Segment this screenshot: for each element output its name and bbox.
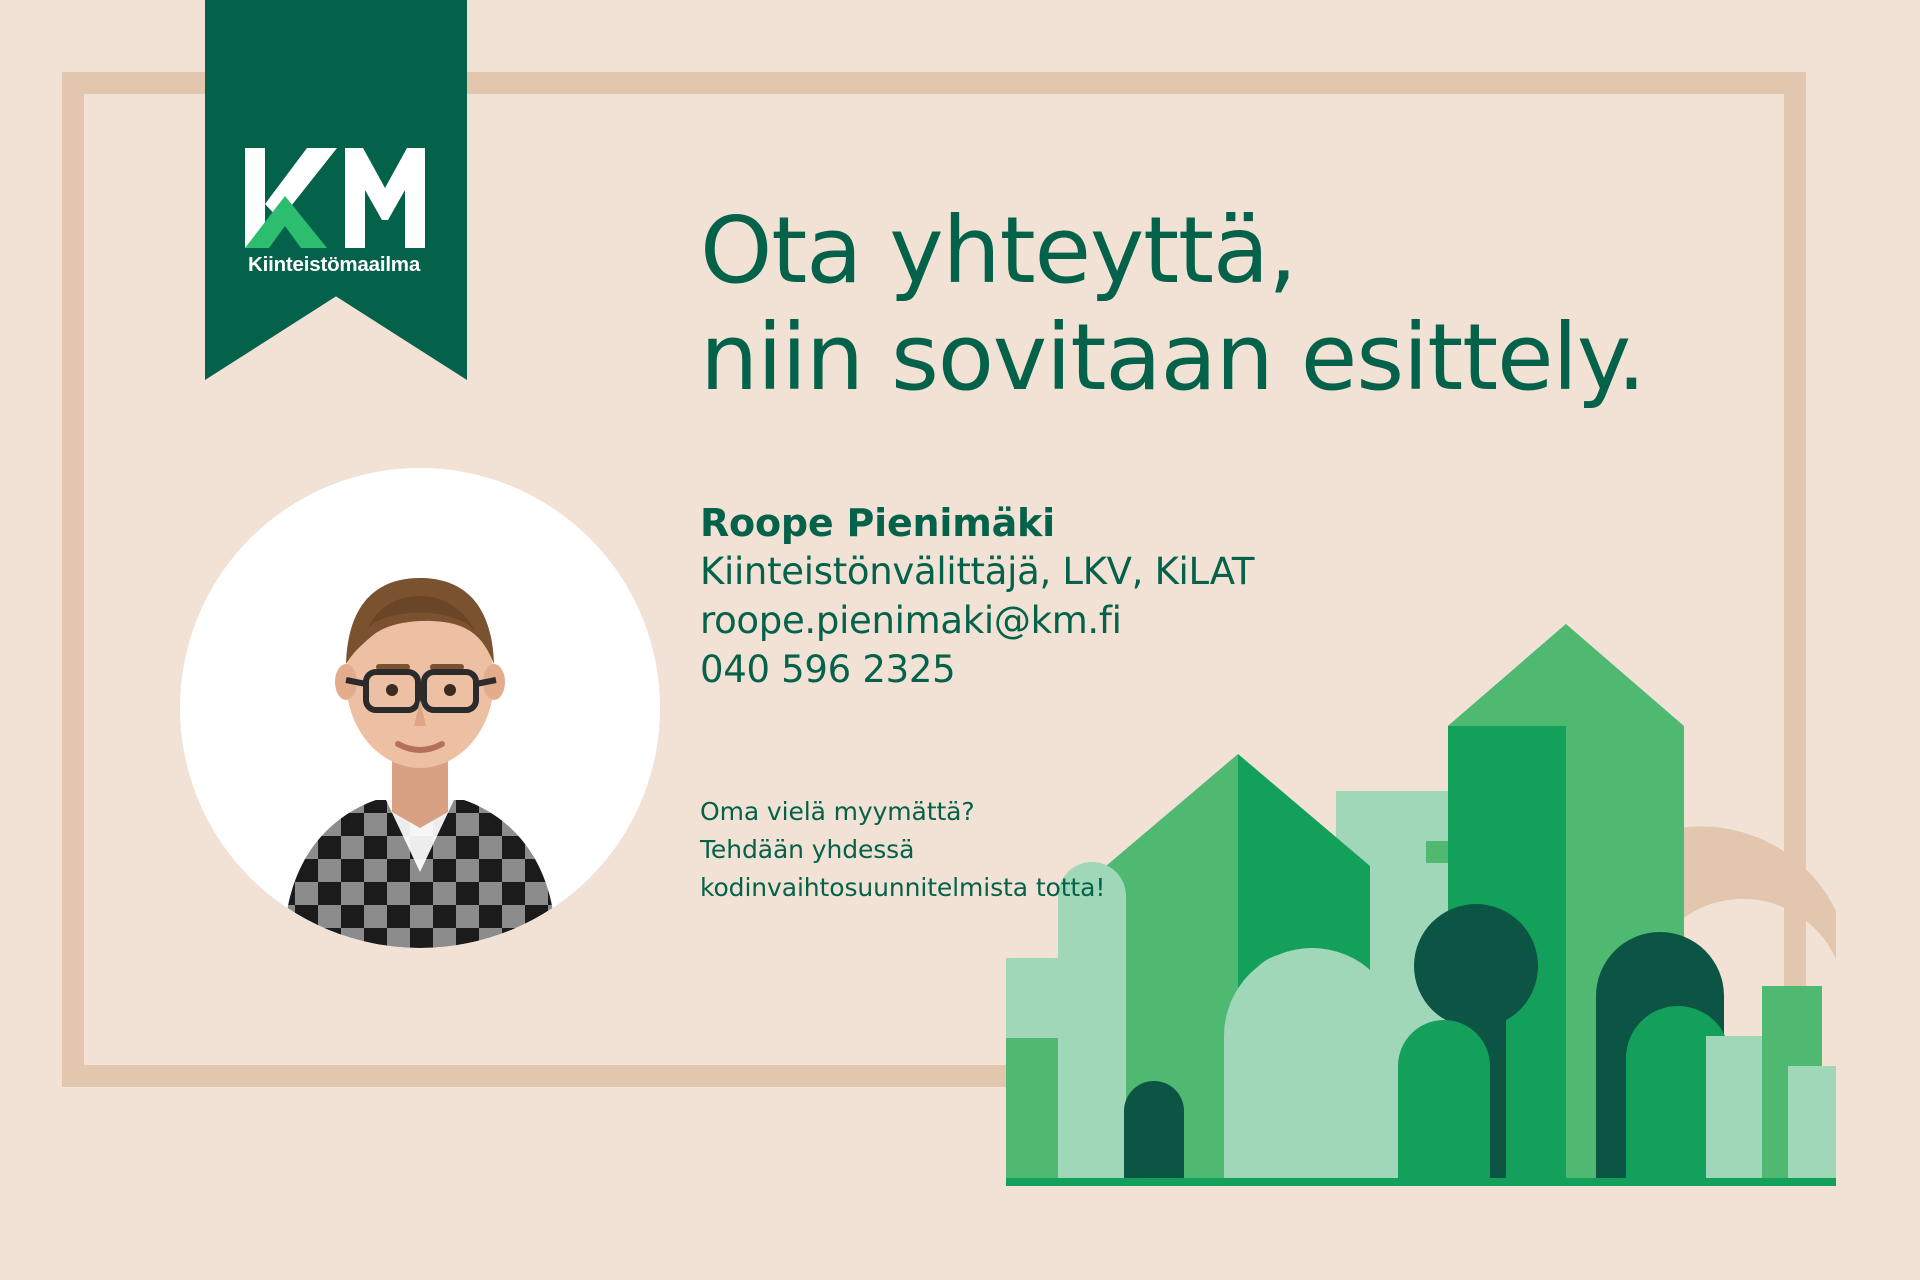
agent-email[interactable]: roope.pienimaki@km.fi xyxy=(700,597,1460,646)
agent-title: Kiinteistönvälittäjä, LKV, KiLAT xyxy=(700,548,1460,597)
rounded-bush-left xyxy=(1058,862,1126,1186)
cta-note: Oma vielä myymättä? Tehdään yhdessä kodi… xyxy=(700,793,1320,907)
bush-pale-round xyxy=(1228,986,1384,1142)
agent-name: Roope Pienimäki xyxy=(700,498,1460,548)
km-monogram-icon xyxy=(245,148,435,248)
cta-note-line-1: Oma vielä myymättä? xyxy=(700,793,1320,831)
ground-strip xyxy=(1006,1178,1836,1186)
agent-contact-block: Roope Pienimäki Kiinteistönvälittäjä, LK… xyxy=(700,498,1460,695)
headline-line-1: Ota yhteyttä, xyxy=(700,197,1296,304)
cta-note-line-3: kodinvaihtosuunnitelmista totta! xyxy=(700,869,1320,907)
contact-card: Kiinteistömaailma Ota yhteyttä, niin sov… xyxy=(0,0,1920,1280)
cta-note-line-2: Tehdään yhdessä xyxy=(700,831,1320,869)
page-title: Ota yhteyttä, niin sovitaan esittely. xyxy=(700,198,1780,411)
far-right-pale xyxy=(1788,1066,1836,1186)
agent-phone[interactable]: 040 596 2325 xyxy=(700,646,1460,695)
shrub-mid xyxy=(1398,1020,1490,1186)
avatar xyxy=(180,468,660,948)
headline-line-2: niin sovitaan esittely. xyxy=(700,305,1780,412)
logo-wordmark: Kiinteistömaailma xyxy=(248,253,438,277)
shrub-dark-left xyxy=(1124,1081,1184,1186)
stair-step-3 xyxy=(1006,958,1058,1038)
stair-step-1 xyxy=(1006,1036,1058,1186)
